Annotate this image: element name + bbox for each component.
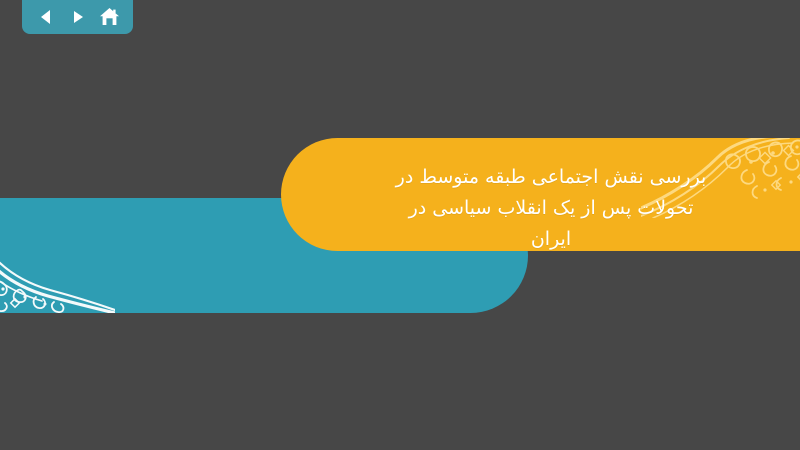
arabesque-ornament-teal xyxy=(0,198,115,313)
home-icon xyxy=(99,7,120,27)
slide-canvas: بررسی نقش اجتماعی طبقه متوسط در تحولات پ… xyxy=(0,0,800,450)
navigation-bar xyxy=(22,0,133,34)
triangle-right-icon xyxy=(69,8,87,26)
home-button[interactable] xyxy=(97,5,121,29)
slide-title: بررسی نقش اجتماعی طبقه متوسط در تحولات پ… xyxy=(386,162,716,251)
forward-button[interactable] xyxy=(66,5,90,29)
back-button[interactable] xyxy=(34,5,58,29)
triangle-left-icon xyxy=(37,8,55,26)
orange-title-banner: بررسی نقش اجتماعی طبقه متوسط در تحولات پ… xyxy=(281,138,800,251)
